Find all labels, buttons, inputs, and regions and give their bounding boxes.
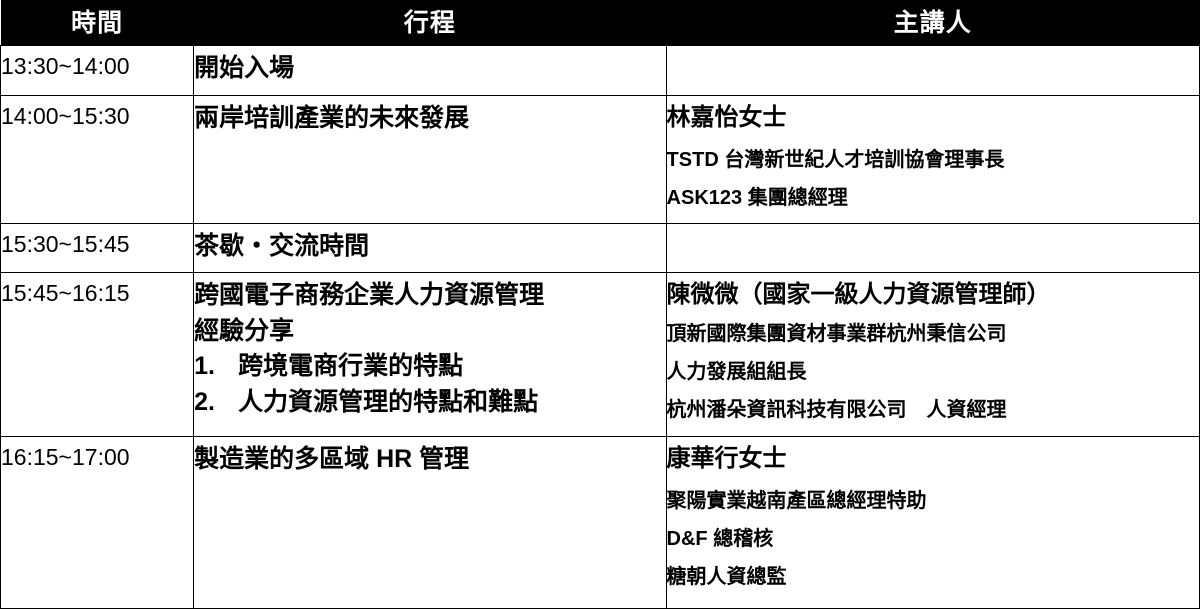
cell-agenda: 製造業的多區域 HR 管理: [194, 437, 666, 609]
speaker-detail-line: ASK123 集團總經理: [667, 179, 1199, 217]
cell-time: 13:30~14:00: [1, 46, 194, 96]
cell-agenda: 開始入場: [194, 46, 666, 96]
agenda-list-item: 2. 人力資源管理的特點和難點: [194, 385, 665, 421]
table-body: 13:30~14:00 開始入場 14:00~15:30 兩岸培訓產業的未來發展…: [1, 46, 1200, 609]
agenda-title: 開始入場: [194, 51, 665, 87]
table-row: 15:30~15:45 茶歇・交流時間: [1, 224, 1200, 273]
agenda-title: 跨國電子商務企業人力資源管理 經驗分享: [194, 278, 665, 349]
cell-agenda: 跨國電子商務企業人力資源管理 經驗分享 1. 跨境電商行業的特點 2. 人力資源…: [194, 273, 666, 437]
speaker-detail-line: TSTD 台灣新世紀人才培訓協會理事長: [667, 141, 1199, 179]
agenda-title: 製造業的多區域 HR 管理: [194, 442, 665, 478]
column-header-agenda: 行程: [194, 0, 666, 46]
speaker-detail-line: D&F 總稽核: [667, 520, 1199, 558]
speaker-detail-line: 人力發展組組長: [667, 353, 1199, 391]
speaker-detail-line: 糖朝人資總監: [667, 558, 1199, 596]
column-header-time: 時間: [1, 0, 194, 46]
speaker-detail-line: 杭州潘朵資訊科技有限公司 人資經理: [667, 391, 1199, 429]
cell-time: 16:15~17:00: [1, 437, 194, 609]
speaker-name: 林嘉怡女士: [667, 101, 1199, 136]
agenda-item-list: 1. 跨境電商行業的特點 2. 人力資源管理的特點和難點: [194, 349, 665, 420]
cell-time: 14:00~15:30: [1, 96, 194, 224]
cell-time: 15:45~16:15: [1, 273, 194, 437]
cell-speaker: 陳微微（國家一級人力資源管理師） 頂新國際集團資材事業群杭州秉信公司 人力發展組…: [666, 273, 1199, 437]
table-row: 15:45~16:15 跨國電子商務企業人力資源管理 經驗分享 1. 跨境電商行…: [1, 273, 1200, 437]
agenda-title: 茶歇・交流時間: [194, 229, 665, 265]
speaker-name: 陳微微（國家一級人力資源管理師）: [667, 278, 1199, 313]
cell-speaker: [666, 46, 1199, 96]
cell-speaker: 林嘉怡女士 TSTD 台灣新世紀人才培訓協會理事長 ASK123 集團總經理: [666, 96, 1199, 224]
speaker-detail-line: 頂新國際集團資材事業群杭州秉信公司: [667, 315, 1199, 353]
schedule-table: 時間 行程 主講人 13:30~14:00 開始入場 14:00~15:30 兩…: [0, 0, 1200, 609]
agenda-item-number: 2.: [194, 385, 238, 421]
column-header-speaker: 主講人: [666, 0, 1199, 46]
speaker-name: 康華行女士: [667, 442, 1199, 477]
cell-speaker: [666, 224, 1199, 273]
cell-agenda: 兩岸培訓產業的未來發展: [194, 96, 666, 224]
table-header: 時間 行程 主講人: [1, 0, 1200, 46]
cell-speaker: 康華行女士 聚陽實業越南產區總經理特助 D&F 總稽核 糖朝人資總監: [666, 437, 1199, 609]
agenda-title: 兩岸培訓產業的未來發展: [194, 101, 665, 137]
speaker-detail-line: 聚陽實業越南產區總經理特助: [667, 482, 1199, 520]
agenda-list-item: 1. 跨境電商行業的特點: [194, 349, 665, 385]
table-row: 16:15~17:00 製造業的多區域 HR 管理 康華行女士 聚陽實業越南產區…: [1, 437, 1200, 609]
table-row: 13:30~14:00 開始入場: [1, 46, 1200, 96]
table-row: 14:00~15:30 兩岸培訓產業的未來發展 林嘉怡女士 TSTD 台灣新世紀…: [1, 96, 1200, 224]
cell-agenda: 茶歇・交流時間: [194, 224, 666, 273]
agenda-item-text: 跨境電商行業的特點: [238, 349, 463, 385]
agenda-item-number: 1.: [194, 349, 238, 385]
cell-time: 15:30~15:45: [1, 224, 194, 273]
agenda-item-text: 人力資源管理的特點和難點: [238, 385, 538, 421]
header-row: 時間 行程 主講人: [1, 0, 1200, 46]
